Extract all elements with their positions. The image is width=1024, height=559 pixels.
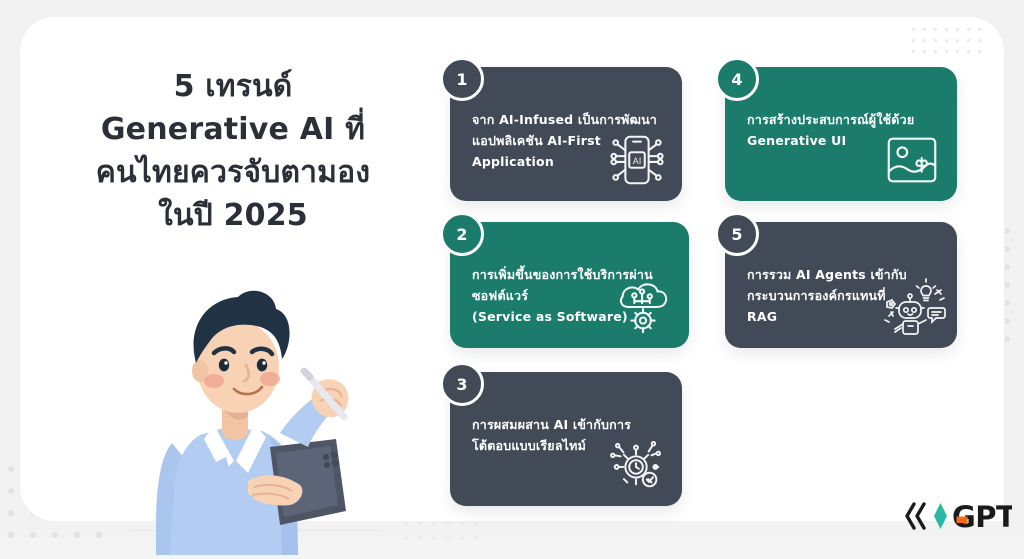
trend-card-5[interactable]: 5 การรวม AI Agents เข้ากับ กระบวนการองค์… [725, 222, 957, 348]
card-text: การผสมผสาน AI เข้ากับการ โต้ตอบแบบเรียลไ… [472, 414, 666, 456]
gpt-logo: GPT [904, 499, 1012, 533]
card-number-badge: 2 [440, 212, 484, 256]
card-number-badge: 1 [440, 57, 484, 101]
trend-card-2[interactable]: 2 การเพิ่มขึ้นของการใช้บริการผ่าน ซอฟต์แ… [450, 222, 689, 348]
card-number-badge: 5 [715, 212, 759, 256]
card-number-badge: 4 [715, 57, 759, 101]
infographic-canvas: 5 เทรนด์ Generative AI ที่ คนไทยควรจับตา… [0, 0, 1024, 538]
trend-card-4[interactable]: 4 การสร้างประสบการณ์ผู้ใช้ด้วย Generativ… [725, 67, 957, 201]
illustration-man-holding-tablet [130, 275, 380, 555]
page-title: 5 เทรนด์ Generative AI ที่ คนไทยควรจับตา… [68, 65, 398, 237]
card-text: จาก AI-Infused เป็นการพัฒนา แอปพลิเคชัน … [472, 109, 666, 172]
card-text: การเพิ่มขึ้นของการใช้บริการผ่าน ซอฟต์แวร… [472, 264, 673, 327]
chevrons-diamond-icon [907, 504, 924, 528]
content-sheet: 5 เทรนด์ Generative AI ที่ คนไทยควรจับตา… [20, 17, 1004, 521]
trend-card-1[interactable]: 1 จาก AI-Infused เป็นการพัฒนา แอปพลิเคชั… [450, 67, 682, 201]
card-text: การรวม AI Agents เข้ากับ กระบวนการองค์กร… [747, 264, 941, 327]
trend-card-3[interactable]: 3 การผสมผสาน AI เข้ากับการ โต้ตอบแบบเรีย… [450, 372, 682, 506]
card-number-badge: 3 [440, 362, 484, 406]
card-text: การสร้างประสบการณ์ผู้ใช้ด้วย Generative … [747, 109, 941, 151]
